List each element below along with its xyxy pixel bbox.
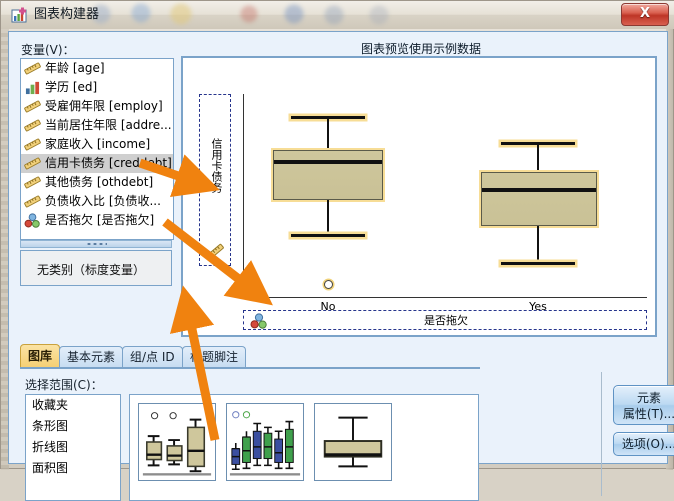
ordinal-bars-icon	[24, 80, 41, 95]
variable-label: 受雇佣年限 [employ]	[45, 99, 163, 113]
variable-list-item[interactable]: 是否拖欠 [是否拖欠]	[21, 211, 173, 230]
variable-list-item[interactable]: 家庭收入 [income]	[21, 135, 173, 154]
y-axis-dropzone-label-wrap: 信用卡债务	[200, 95, 232, 235]
variable-label: 负债收入比 [负债收...	[45, 194, 161, 208]
y-axis-dropzone[interactable]: 信用卡债务	[199, 94, 231, 266]
chart-preview-panel: 信用卡债务	[181, 56, 657, 337]
variable-label: 其他债务 [othdebt]	[45, 175, 153, 189]
scale-ruler-icon	[24, 156, 41, 171]
side-panel-separator	[601, 372, 602, 496]
scale-ruler-icon	[24, 137, 41, 152]
options-button[interactable]: 选项(O)...	[613, 432, 674, 456]
gallery-category-list[interactable]: 收藏夹条形图折线图面积图	[25, 394, 121, 501]
tab-underline	[20, 367, 480, 369]
scale-ruler-icon	[24, 175, 41, 190]
scale-ruler-icon	[24, 194, 41, 209]
variable-label: 学历 [ed]	[45, 80, 97, 94]
scale-ruler-icon	[24, 99, 41, 114]
dialog-body: 变量(V)： 年龄 [age]学历 [ed]受雇佣年限 [employ]当前居住…	[8, 31, 668, 464]
variable-label: 当前居住年限 [addre...	[45, 118, 172, 132]
variable-list-item[interactable]: 年龄 [age]	[21, 59, 173, 78]
window-frame: 图表构建器 X 变量(V)： 年龄 [age]学历 [ed]受雇佣年限 [emp…	[0, 0, 674, 469]
variables-label: 变量(V)：	[21, 41, 75, 58]
window-title: 图表构建器	[34, 6, 99, 23]
variable-label: 信用卡债务 [creddebt]	[45, 156, 172, 170]
gallery-scope-label: 选择范围(C)：	[25, 376, 103, 393]
x-axis-dropzone[interactable]: 是否拖欠	[243, 310, 647, 330]
variable-list-item[interactable]: 学历 [ed]	[21, 78, 173, 97]
scale-ruler-icon	[24, 61, 41, 76]
close-icon: X	[622, 4, 668, 25]
close-button[interactable]: X	[621, 3, 669, 26]
element-properties-button[interactable]: 元素 属性(T)...	[613, 385, 674, 425]
chart-canvas: 信用卡债务	[185, 60, 653, 333]
scale-ruler-icon	[207, 243, 225, 259]
no-category-label: 无类别（标度变量）	[37, 261, 145, 278]
element-properties-line2: 属性(T)...	[614, 406, 674, 422]
no-category-box: 无类别（标度变量）	[20, 250, 172, 286]
clustered-boxplot-thumb[interactable]	[226, 403, 304, 481]
tab-组/点 ID[interactable]: 组/点 ID	[122, 346, 183, 368]
variable-label: 家庭收入 [income]	[45, 137, 150, 151]
tab-gallery[interactable]: 图库	[20, 344, 60, 368]
variable-list[interactable]: 年龄 [age]学历 [ed]受雇佣年限 [employ]当前居住年限 [add…	[20, 58, 174, 240]
element-properties-line1: 元素	[614, 390, 674, 406]
gallery-category-item[interactable]: 折线图	[26, 437, 120, 458]
gallery-category-item[interactable]: 收藏夹	[26, 395, 120, 416]
x-axis-line	[243, 297, 647, 298]
chart-builder-window: 图表构建器 X 变量(V)： 年龄 [age]学历 [ed]受雇佣年限 [emp…	[0, 0, 674, 469]
tab-strip[interactable]: 图库基本元素组/点 ID标题脚注	[20, 344, 480, 368]
variable-list-item[interactable]: 信用卡债务 [creddebt]	[21, 154, 173, 173]
nominal-circles-icon	[24, 213, 41, 228]
one-dimensional-boxplot-thumb[interactable]	[314, 403, 392, 481]
variable-list-item[interactable]: 受雇佣年限 [employ]	[21, 97, 173, 116]
x-axis-dropzone-label: 是否拖欠	[244, 311, 648, 331]
variable-list-item[interactable]: 负债收入比 [负债收...	[21, 192, 173, 211]
chart-builder-icon	[11, 6, 28, 23]
variable-list-splitter[interactable]	[20, 240, 172, 248]
gallery-thumbnails-panel	[129, 394, 479, 501]
outlier-point-no	[324, 280, 333, 289]
simple-boxplot-thumb[interactable]	[138, 403, 216, 481]
variable-list-item[interactable]: 其他债务 [othdebt]	[21, 173, 173, 192]
variable-label: 年龄 [age]	[45, 61, 105, 75]
y-axis-dropzone-label: 信用卡债务	[208, 138, 224, 193]
y-axis-line	[243, 94, 244, 298]
variable-label: 是否拖欠 [是否拖欠]	[45, 213, 154, 227]
tab-标题脚注[interactable]: 标题脚注	[182, 346, 246, 368]
gallery-category-item[interactable]: 条形图	[26, 416, 120, 437]
variable-list-item[interactable]: 当前居住年限 [addre...	[21, 116, 173, 135]
scale-ruler-icon	[24, 118, 41, 133]
title-bar: 图表构建器 X	[1, 1, 674, 29]
preview-title: 图表预览使用示例数据	[181, 40, 661, 57]
tab-基本元素[interactable]: 基本元素	[59, 346, 123, 368]
background-toolbar-blur	[89, 2, 539, 27]
plot-area: No Yes	[243, 94, 647, 302]
